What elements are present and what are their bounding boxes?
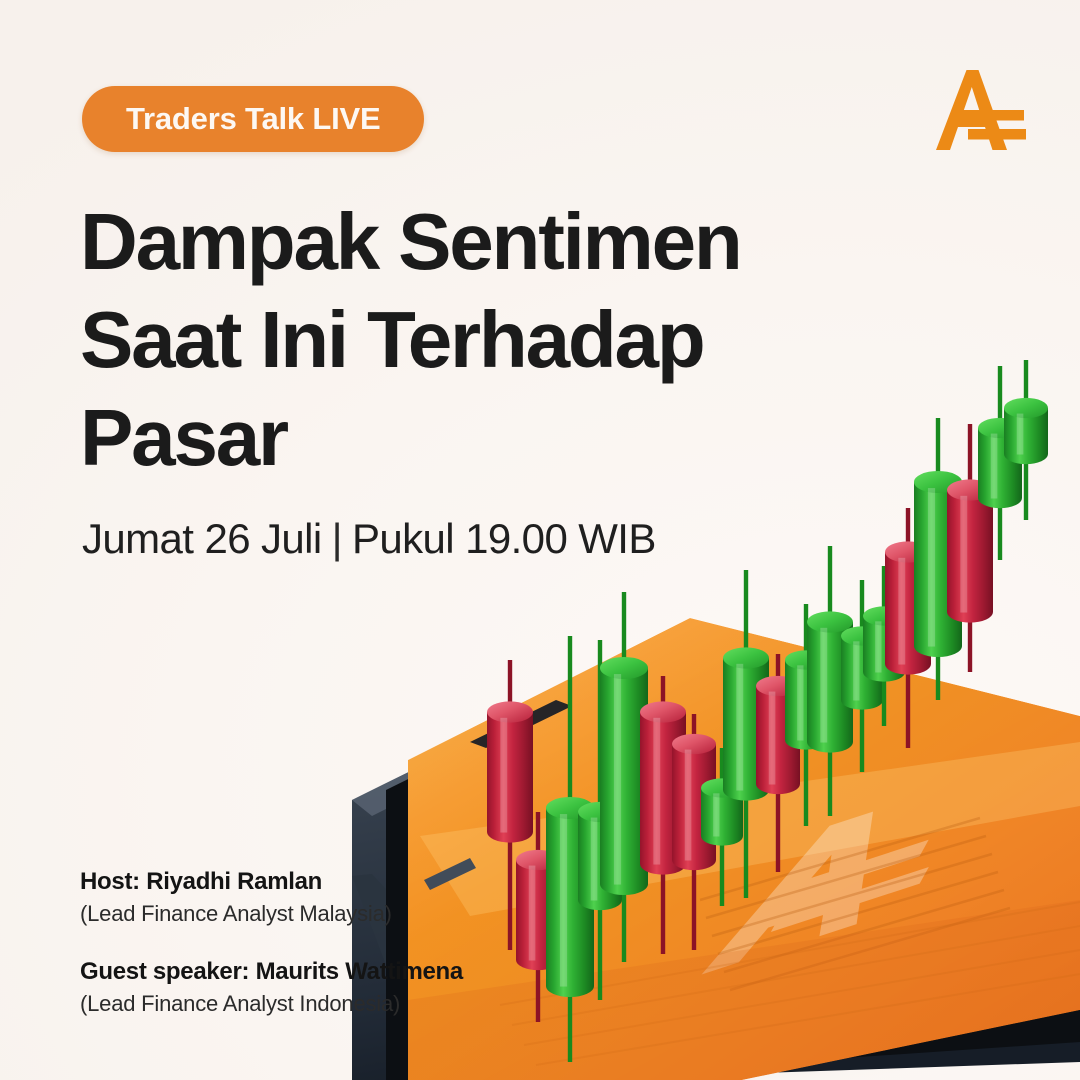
- candle-wick-lower: [804, 736, 808, 826]
- candle-cap: [487, 701, 533, 722]
- candle-5: [600, 592, 648, 962]
- candle-body: [756, 686, 800, 794]
- candle-highlight: [1017, 414, 1024, 455]
- candle-wick-upper: [622, 592, 626, 672]
- candle-highlight: [713, 793, 719, 836]
- headline-line-3: Pasar: [80, 389, 840, 487]
- candle-wick-lower: [968, 608, 972, 672]
- candle-highlight: [614, 674, 621, 884]
- candle-body: [841, 636, 883, 710]
- candle-cap: [672, 734, 716, 754]
- candle-9: [723, 570, 769, 898]
- credits-block: Host: Riyadhi Ramlan (Lead Finance Analy…: [80, 866, 600, 1020]
- candle-highlight: [853, 641, 859, 700]
- candle-highlight: [653, 718, 660, 865]
- candle-wick-upper: [860, 580, 864, 640]
- host-credit: Host: Riyadhi Ramlan (Lead Finance Analy…: [80, 866, 600, 930]
- schedule-date: Jumat 26 Juli: [82, 515, 322, 562]
- candle-wick-lower: [1024, 450, 1028, 520]
- candle-highlight: [898, 558, 905, 665]
- candle-cap: [807, 611, 853, 632]
- screen-logo-watermark: [702, 777, 979, 974]
- candle-wick-upper: [776, 654, 780, 690]
- host-role: (Lead Finance Analyst Malaysia): [80, 898, 600, 930]
- live-badge-label: Traders Talk LIVE: [126, 101, 380, 137]
- candle-11: [785, 604, 827, 826]
- candle-body: [1004, 408, 1048, 464]
- host-name: Host: Riyadhi Ramlan: [80, 866, 600, 898]
- candle-15: [885, 508, 931, 748]
- candle-wick-lower: [622, 880, 626, 962]
- candle-highlight: [928, 488, 935, 646]
- candle-wick-upper: [720, 748, 724, 792]
- page-title: Dampak Sentimen Saat Ini Terhadap Pasar: [80, 193, 840, 487]
- candle-cap: [863, 606, 905, 625]
- candle-cap: [546, 797, 594, 819]
- candle-body: [672, 744, 716, 870]
- candle-cap: [723, 647, 769, 668]
- candle-wick-upper: [968, 424, 972, 494]
- candle-cap: [1004, 398, 1048, 418]
- candle-wick-upper: [1024, 360, 1028, 412]
- candle-cap: [756, 676, 800, 696]
- candle-highlight: [500, 718, 507, 833]
- candle-highlight: [797, 665, 803, 740]
- candle-wick-lower: [936, 642, 940, 700]
- candle-14: [863, 566, 905, 726]
- candle-cap: [885, 541, 931, 562]
- schedule-line: Jumat 26 Juli|Pukul 19.00 WIB: [82, 513, 656, 565]
- candle-body: [914, 482, 962, 657]
- candle-wick-lower: [828, 738, 832, 816]
- candle-16: [914, 418, 962, 700]
- candle-wick-upper: [828, 546, 832, 626]
- candle-cap: [978, 418, 1022, 438]
- candle-wick-upper: [536, 812, 540, 864]
- candle-wick-upper: [936, 418, 940, 486]
- candle-wick-upper: [508, 660, 512, 716]
- candle-cap: [947, 479, 993, 500]
- schedule-separator: |: [322, 513, 352, 565]
- candle-wick-lower: [692, 856, 696, 950]
- candle-highlight: [820, 628, 827, 743]
- candle-17: [947, 424, 993, 672]
- candle-wick-upper: [598, 640, 602, 816]
- ava-a-logo-icon: [928, 58, 1032, 162]
- candle-body: [785, 660, 827, 750]
- candle-highlight: [875, 621, 881, 672]
- candle-wick-upper: [661, 676, 665, 716]
- candle-body: [807, 622, 853, 753]
- candle-7: [672, 714, 716, 950]
- candle-highlight: [736, 664, 743, 791]
- candle-cap: [914, 471, 962, 493]
- screen-grid-lines: [700, 818, 1010, 990]
- candle-wick-lower: [882, 668, 886, 726]
- candle-wick-upper: [804, 604, 808, 664]
- candle-highlight: [991, 434, 998, 499]
- candle-wick-upper: [882, 566, 886, 620]
- candle-cap: [600, 657, 648, 679]
- candle-wick-lower: [744, 786, 748, 898]
- candle-body: [978, 428, 1022, 508]
- headline-line-1: Dampak Sentimen: [80, 193, 840, 291]
- candle-highlight: [960, 496, 967, 613]
- phone-edge-highlight: [352, 636, 704, 816]
- candle-cap: [640, 701, 686, 722]
- candle-body: [863, 616, 905, 682]
- guest-name: Guest speaker: Maurits Wattimena: [80, 956, 600, 988]
- guest-role: (Lead Finance Analyst Indonesia): [80, 988, 600, 1020]
- candle-13: [841, 580, 883, 772]
- live-badge[interactable]: Traders Talk LIVE: [82, 86, 424, 152]
- candle-cap: [578, 802, 622, 822]
- candle-highlight: [685, 750, 692, 861]
- candle-body: [947, 490, 993, 623]
- candle-wick-upper: [998, 366, 1002, 432]
- candle-body: [885, 552, 931, 675]
- candle-wick-upper: [692, 714, 696, 748]
- candle-wick-lower: [661, 860, 665, 954]
- headline-line-2: Saat Ini Terhadap: [80, 291, 840, 389]
- candle-wick-lower: [906, 660, 910, 748]
- poster-canvas: Traders Talk LIVE Dampak Sentimen Saat I…: [0, 0, 1080, 1080]
- candle-wick-lower: [720, 832, 724, 906]
- candle-body: [487, 712, 533, 843]
- candle-cap: [785, 650, 827, 669]
- guest-credit: Guest speaker: Maurits Wattimena (Lead F…: [80, 956, 600, 1020]
- candle-wick-lower: [776, 780, 780, 872]
- candle-10: [756, 654, 800, 872]
- candle-12: [807, 546, 853, 816]
- candle-highlight: [769, 692, 776, 785]
- candle-cap: [701, 778, 743, 797]
- candle-body: [723, 658, 769, 801]
- candle-18: [978, 366, 1022, 560]
- candle-8: [701, 748, 743, 906]
- schedule-time: Pukul 19.00 WIB: [352, 515, 656, 562]
- candle-wick-upper: [744, 570, 748, 662]
- candle-wick-upper: [906, 508, 910, 556]
- candle-wick-lower: [860, 696, 864, 772]
- candle-wick-lower: [998, 494, 1002, 560]
- candle-body: [640, 712, 686, 875]
- candle-6: [640, 676, 686, 954]
- candle-wick-upper: [568, 636, 572, 812]
- candle-body: [701, 788, 743, 846]
- candle-cap: [841, 626, 883, 645]
- candle-19: [1004, 360, 1048, 520]
- candle-body: [600, 668, 648, 895]
- phone-notch: [470, 700, 572, 748]
